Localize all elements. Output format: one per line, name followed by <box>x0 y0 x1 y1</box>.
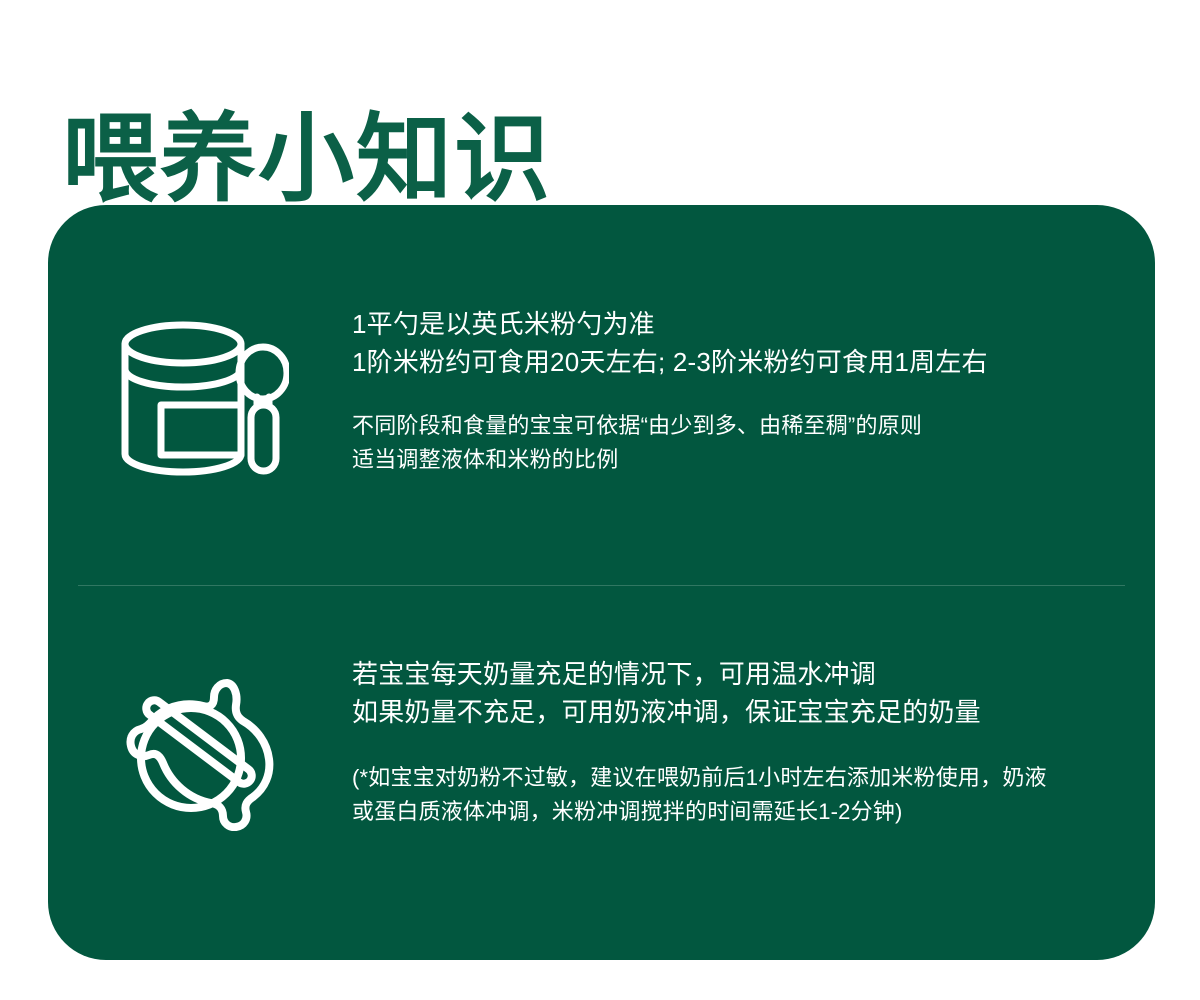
tip-note-text: 不同阶段和食量的宝宝可依据“由少到多、由稀至稠”的原则 适当调整液体和米粉的比例 <box>352 409 1115 477</box>
text-cell: 1平勺是以英氏米粉勺为准 1阶米粉约可食用20天左右; 2-3阶米粉约可食用1周… <box>352 305 1155 477</box>
feeding-tips-page: 喂养小知识 <box>0 0 1200 1000</box>
icon-cell <box>48 655 352 831</box>
bottle-nipple-no-icon <box>115 661 285 831</box>
section-divider <box>78 585 1125 586</box>
tip-lead-text: 若宝宝每天奶量充足的情况下，可用温水冲调 如果奶量不充足，可用奶液冲调，保证宝宝… <box>352 655 1115 731</box>
tip-section-milk-mixing: 若宝宝每天奶量充足的情况下，可用温水冲调 如果奶量不充足，可用奶液冲调，保证宝宝… <box>48 655 1155 831</box>
text-cell: 若宝宝每天奶量充足的情况下，可用温水冲调 如果奶量不充足，可用奶液冲调，保证宝宝… <box>352 655 1155 829</box>
tip-section-preparation: 1平勺是以英氏米粉勺为准 1阶米粉约可食用20天左右; 2-3阶米粉约可食用1周… <box>48 305 1155 487</box>
feeding-tips-card: 1平勺是以英氏米粉勺为准 1阶米粉约可食用20天左右; 2-3阶米粉约可食用1周… <box>48 205 1155 960</box>
icon-cell <box>48 305 352 487</box>
tip-lead-text: 1平勺是以英氏米粉勺为准 1阶米粉约可食用20天左右; 2-3阶米粉约可食用1周… <box>352 305 1115 381</box>
rice-cereal-can-and-spoon-icon <box>111 311 289 487</box>
tip-note-text: (*如宝宝对奶粉不过敏，建议在喂奶前后1小时左右添加米粉使用，奶液 或蛋白质液体… <box>352 761 1115 829</box>
page-title: 喂养小知识 <box>62 100 552 220</box>
